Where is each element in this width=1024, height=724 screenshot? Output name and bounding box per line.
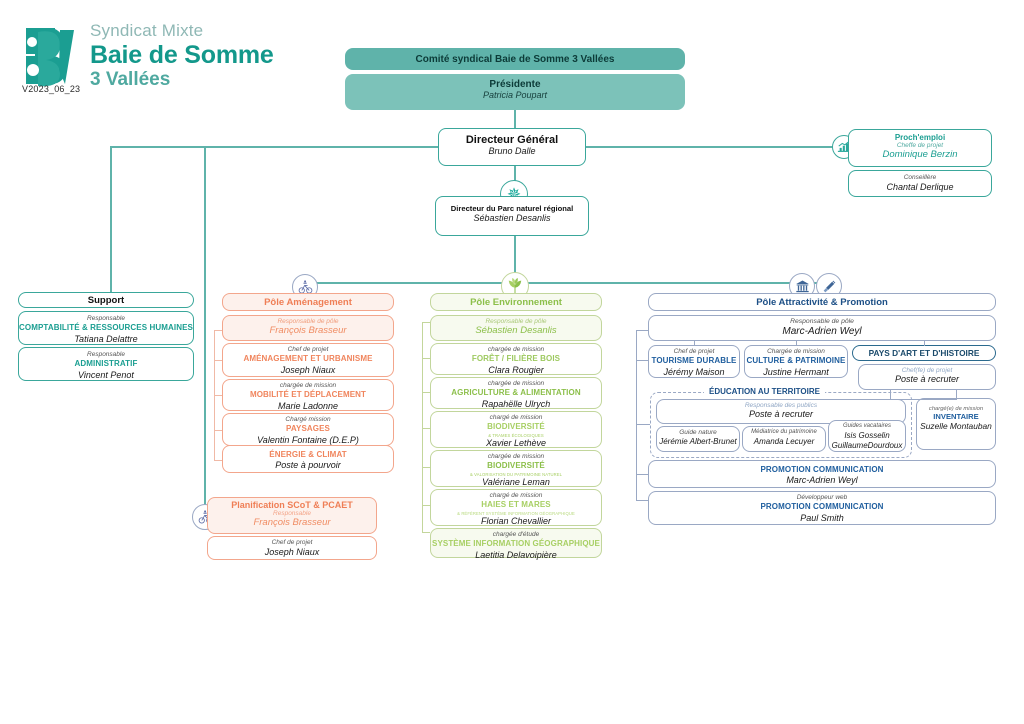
support-header: Support	[88, 295, 124, 306]
amenagement-item-2-title: PAYSAGES	[223, 424, 393, 434]
environnement-item-1-title: AGRICULTURE & ALIMENTATION	[431, 388, 601, 398]
planification-item-0: Chef de projet Joseph Niaux	[207, 536, 377, 560]
environnement-item-3-name: Valériane Leman	[431, 477, 601, 489]
amenagement-lead-box: Responsable de pôle François Brasseur	[222, 315, 394, 341]
pays-role: Chef(fe) de projet	[859, 367, 995, 374]
environnement-item-2-role: chargé de mission	[431, 414, 601, 422]
advisor-name: Chantal Derlique	[849, 182, 991, 194]
support-item-0-role: Responsable	[19, 315, 193, 323]
amenagement-item-1-title: MOBILITÉ ET DÉPLACEMENT	[223, 390, 393, 400]
environnement-item-1: chargée de mission AGRICULTURE & ALIMENT…	[430, 377, 602, 409]
culture-name: Justine Hermant	[745, 367, 847, 379]
promotion-0-name: Marc-Adrien Weyl	[649, 475, 995, 487]
planification-header: Planification SCoT & PCAET	[208, 500, 376, 510]
education-item-2-role: Guides vacataires	[829, 423, 905, 431]
prochemploi-title: Proch'emploi	[849, 133, 991, 142]
planification-item-0-role: Chef de projet	[208, 539, 376, 547]
amenagement-bracket-tick-3	[214, 430, 222, 431]
environnement-item-3-title: BIODIVERSITÉ	[431, 461, 601, 471]
connector-president-dg	[514, 110, 516, 128]
pays-name: Poste à recruter	[859, 374, 995, 386]
prochemploi-box: Proch'emploi Cheffe de projet Dominique …	[848, 129, 992, 167]
connector-spine-planification	[204, 146, 206, 516]
tourisme-title: TOURISME DURABLE	[649, 356, 739, 366]
environnement-header: Pôle Environnement	[470, 297, 562, 308]
logo-line-2: Baie de Somme	[90, 43, 274, 68]
tourisme-box: Chef de projet TOURISME DURABLE Jérémy M…	[648, 345, 740, 378]
attractivite-lead-name: Marc-Adrien Weyl	[649, 325, 995, 338]
education-item-0-role: Guide nature	[657, 429, 739, 437]
promotion-0-title: PROMOTION COMMUNICATION	[649, 465, 995, 475]
inventaire-title: INVENTAIRE	[917, 412, 995, 421]
environnement-item-5-name: Laetitia Delavoipière	[431, 550, 601, 562]
inventaire-name: Suzelle Montauban	[917, 421, 995, 432]
pays-drop	[924, 341, 925, 346]
environnement-item-4-role: chargé de mission	[431, 492, 601, 500]
environnement-header-box: Pôle Environnement	[430, 293, 602, 311]
support-item-1-role: Responsable	[19, 351, 193, 359]
amenagement-item-0-title: AMÉNAGEMENT ET URBANISME	[223, 354, 393, 364]
bsv-monogram-icon	[22, 26, 78, 88]
committee-box: Comité syndical Baie de Somme 3 Vallées	[345, 48, 685, 70]
culture-drop	[796, 341, 797, 346]
environnement-item-5-role: chargée d'étude	[431, 531, 601, 539]
environnement-lead-box: Responsable de pôle Sébastien Desanlis	[430, 315, 602, 341]
culture-box: Chargée de mission CULTURE & PATRIMOINE …	[744, 345, 848, 378]
environnement-bracket-tick-5	[422, 505, 430, 506]
culture-title: CULTURE & PATRIMOINE	[745, 356, 847, 366]
promotion-1-role: Développeur web	[649, 494, 995, 502]
education-item-2: Guides vacataires Isis Gosselin Guillaum…	[828, 420, 906, 452]
amenagement-item-3-name: Poste à pourvoir	[223, 460, 393, 472]
education-lead-name: Poste à recruter	[657, 409, 905, 421]
environnement-item-5-title: SYSTÈME INFORMATION GÉOGRAPHIQUE	[431, 539, 601, 549]
education-item-0-name: Jérémie Albert-Brunet	[657, 437, 739, 447]
attractivite-header: Pôle Attractivité & Promotion	[756, 297, 888, 308]
amenagement-item-1: chargée de mission MOBILITÉ ET DÉPLACEME…	[222, 379, 394, 411]
education-item-0: Guide nature Jérémie Albert-Brunet	[656, 426, 740, 452]
attractivite-lead-role: Responsable de pôle	[649, 318, 995, 325]
environnement-bracket-tick-0	[422, 322, 430, 323]
spine-right	[586, 146, 838, 148]
amenagement-bracket-tick-4	[214, 460, 222, 461]
director-general-box: Directeur Général Bruno Dalle	[438, 128, 586, 166]
amenagement-header-box: Pôle Aménagement	[222, 293, 394, 311]
support-header-box: Support	[18, 292, 194, 308]
president-box: Présidente Patricia Poupart	[345, 74, 685, 110]
environnement-lead-name: Sébastien Desanlis	[431, 325, 601, 336]
education-item-1-role: Médiatrice du patrimoine	[743, 429, 825, 437]
environnement-item-4: chargé de mission HAIES ET MARES & RÉFÉR…	[430, 489, 602, 526]
education-item-1-name: Amanda Lecuyer	[743, 437, 825, 447]
environnement-item-2-name: Xavier Lethève	[431, 438, 601, 450]
support-item-1: Responsable ADMINISTRATIF Vincent Penot	[18, 347, 194, 381]
inventaire-box: chargé(e) de mission INVENTAIRE Suzelle …	[916, 398, 996, 450]
parc-title: Directeur du Parc naturel régional	[436, 204, 588, 213]
dg-title: Directeur Général	[439, 134, 585, 146]
environnement-item-4-title: HAIES ET MARES	[431, 500, 601, 510]
spine-left	[110, 146, 438, 148]
drop-support	[110, 146, 112, 298]
support-item-0: Responsable COMPTABILITÉ & RESSOURCES HU…	[18, 311, 194, 345]
amenagement-item-0-name: Joseph Niaux	[223, 365, 393, 377]
environnement-lead-role: Responsable de pôle	[431, 318, 601, 325]
support-item-0-name: Tatiana Delattre	[19, 334, 193, 346]
amenagement-item-0: Chef de projet AMÉNAGEMENT ET URBANISME …	[222, 343, 394, 377]
environnement-item-2-title: BIODIVERSITÉ	[431, 422, 601, 432]
environnement-item-0-name: Clara Rougier	[431, 365, 601, 377]
attractivite-header-box: Pôle Attractivité & Promotion	[648, 293, 996, 311]
environnement-item-3-role: chargée de mission	[431, 453, 601, 461]
pays-bridge	[890, 399, 956, 400]
version-label: V2023_06_23	[22, 84, 80, 94]
attractivite-lead-box: Responsable de pôle Marc-Adrien Weyl	[648, 315, 996, 341]
education-lead-role: Responsable des publics	[657, 402, 905, 409]
amenagement-item-1-name: Marie Ladonne	[223, 401, 393, 413]
education-item-2-name: Isis Gosselin GuillaumeDourdoux	[829, 431, 905, 452]
amenagement-item-3: ÉNERGIE & CLIMAT Poste à pourvoir	[222, 445, 394, 473]
amenagement-item-2: Chargé mission PAYSAGES Valentin Fontain…	[222, 413, 394, 446]
environnement-bracket-tick-6	[422, 532, 430, 533]
tourisme-role: Chef de projet	[649, 348, 739, 356]
promotion-box-1: Développeur web PROMOTION COMMUNICATION …	[648, 491, 996, 525]
attractivite-bracket-tick-0	[636, 330, 648, 331]
parc-name: Sébastien Desanlis	[436, 213, 588, 225]
prochemploi-role: Cheffe de projet	[849, 142, 991, 149]
amenagement-item-1-role: chargée de mission	[223, 382, 393, 390]
logo-line-1: Syndicat Mixte	[90, 22, 274, 39]
amenagement-item-0-role: Chef de projet	[223, 346, 393, 354]
promotion-box-0: PROMOTION COMMUNICATION Marc-Adrien Weyl	[648, 460, 996, 488]
education-group-label: ÉDUCATION AU TERRITOIRE	[704, 387, 825, 396]
planification-lead-role: Responsable	[208, 510, 376, 517]
environnement-bracket-tick-4	[422, 467, 430, 468]
environnement-item-0-title: FORÊT / FILIÈRE BOIS	[431, 354, 601, 364]
tourisme-drop	[694, 341, 695, 346]
dg-name: Bruno Dalle	[439, 146, 585, 158]
support-item-1-title: ADMINISTRATIF	[19, 359, 193, 369]
environnement-bracket-tick-1	[422, 358, 430, 359]
parc-director-box: Directeur du Parc naturel régional Sébas…	[435, 196, 589, 236]
tourisme-name: Jérémy Maison	[649, 367, 739, 379]
pays-drop-right	[956, 390, 957, 400]
museum-icon	[795, 279, 810, 294]
environnement-item-5: chargée d'étude SYSTÈME INFORMATION GÉOG…	[430, 528, 602, 558]
environnement-item-4-name: Florian Chevallier	[431, 516, 601, 528]
promotion-1-title: PROMOTION COMMUNICATION	[649, 502, 995, 512]
planification-item-0-name: Joseph Niaux	[208, 547, 376, 559]
pays-lead-box: Chef(fe) de projet Poste à recruter	[858, 364, 996, 390]
pays-header: PAYS D'ART ET D'HISTOIRE	[869, 348, 980, 358]
planification-header-box: Planification SCoT & PCAET Responsable F…	[207, 497, 377, 534]
environnement-bracket	[422, 322, 423, 532]
education-item-1: Médiatrice du patrimoine Amanda Lecuyer	[742, 426, 826, 452]
environnement-bracket-tick-2	[422, 392, 430, 393]
president-title: Présidente	[345, 79, 685, 90]
attractivite-bracket-tick-1	[636, 360, 648, 361]
amenagement-lead-name: François Brasseur	[223, 325, 393, 336]
culture-role: Chargée de mission	[745, 348, 847, 356]
logo-line-3: 3 Vallées	[90, 70, 274, 89]
amenagement-item-3-title: ÉNERGIE & CLIMAT	[223, 450, 393, 460]
environnement-item-1-name: Rapahëlle Ulrych	[431, 399, 601, 411]
environnement-item-1-role: chargée de mission	[431, 380, 601, 388]
prochemploi-advisor-box: Conseillère Chantal Derlique	[848, 170, 992, 197]
pays-header-box: PAYS D'ART ET D'HISTOIRE	[852, 345, 996, 361]
environnement-item-3: chargée de mission BIODIVERSITÉ & VALORI…	[430, 450, 602, 487]
prochemploi-name: Dominique Berzin	[849, 149, 991, 160]
amenagement-lead-role: Responsable de pôle	[223, 318, 393, 325]
environnement-item-0: chargée de mission FORÊT / FILIÈRE BOIS …	[430, 343, 602, 375]
amenagement-bracket-tick-2	[214, 395, 222, 396]
environnement-item-0-role: chargée de mission	[431, 346, 601, 354]
attractivite-bracket-tick-3	[636, 474, 648, 475]
amenagement-item-2-role: Chargé mission	[223, 416, 393, 424]
planification-lead-name: François Brasseur	[208, 517, 376, 528]
amenagement-bracket-tick-0	[214, 330, 222, 331]
committee-label: Comité syndical Baie de Somme 3 Vallées	[416, 54, 615, 65]
amenagement-header: Pôle Aménagement	[264, 297, 352, 308]
support-item-0-title: COMPTABILITÉ & RESSOURCES HUMAINES	[19, 323, 193, 333]
attractivite-bracket-tick-2	[636, 424, 650, 425]
president-name: Patricia Poupart	[345, 90, 685, 100]
environnement-item-2: chargé de mission BIODIVERSITÉ & TRAMES …	[430, 411, 602, 448]
advisor-role: Conseillère	[849, 174, 991, 182]
support-item-1-name: Vincent Penot	[19, 370, 193, 382]
environnement-bracket-tick-3	[422, 428, 430, 429]
pole-spine	[305, 282, 825, 284]
org-chart-canvas: Syndicat Mixte Baie de Somme 3 Vallées V…	[0, 0, 1024, 724]
paintbrush-icon	[822, 279, 837, 294]
promotion-1-name: Paul Smith	[649, 513, 995, 525]
amenagement-bracket-tick-1	[214, 360, 222, 361]
brand-logo: Syndicat Mixte Baie de Somme 3 Vallées	[22, 22, 312, 112]
attractivite-bracket-tick-4	[636, 500, 648, 501]
